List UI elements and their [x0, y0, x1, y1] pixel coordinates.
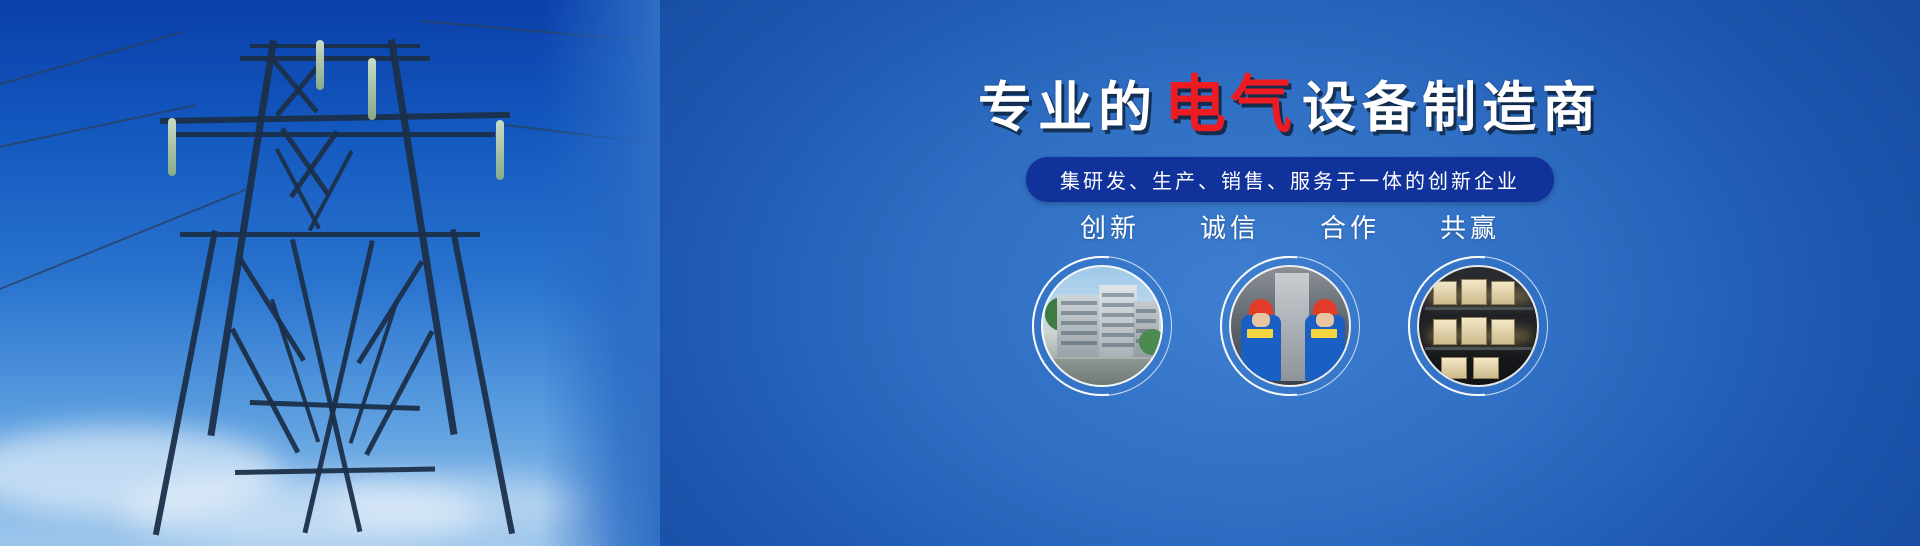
transmission-tower-photo — [0, 0, 660, 546]
banner-content: 专业的电气设备制造商 集研发、生产、销售、服务于一体的创新企业 创新 诚信 合作… — [660, 0, 1920, 546]
thumbnail-item[interactable] — [1226, 262, 1354, 390]
headline-part-1: 专业的 — [978, 76, 1158, 139]
keyword-innovation: 创新 — [1080, 208, 1140, 245]
keyword-integrity: 诚信 — [1200, 208, 1260, 245]
promo-banner: 专业的电气设备制造商 集研发、生产、销售、服务于一体的创新企业 创新 诚信 合作… — [0, 0, 1920, 546]
thumbnail-item[interactable] — [1038, 262, 1166, 390]
keyword-winwin: 共赢 — [1440, 208, 1500, 245]
thumbnail-list — [660, 262, 1920, 390]
thumbnail-item[interactable] — [1414, 262, 1542, 390]
workers-installing-panel-photo — [1229, 265, 1351, 387]
product-showroom-photo — [1417, 265, 1539, 387]
tagline-text: 集研发、生产、销售、服务于一体的创新企业 — [1060, 169, 1520, 193]
office-building-photo — [1041, 265, 1163, 387]
tagline-pill: 集研发、生产、销售、服务于一体的创新企业 — [1026, 157, 1554, 202]
headline-part-2: 设备制造商 — [1302, 76, 1602, 139]
headline-highlight: 电气 — [1158, 68, 1302, 141]
page-title: 专业的电气设备制造商 — [660, 74, 1920, 136]
pylon-structure — [120, 0, 550, 546]
keyword-cooperation: 合作 — [1320, 208, 1380, 245]
keyword-list: 创新 诚信 合作 共赢 — [660, 208, 1920, 245]
